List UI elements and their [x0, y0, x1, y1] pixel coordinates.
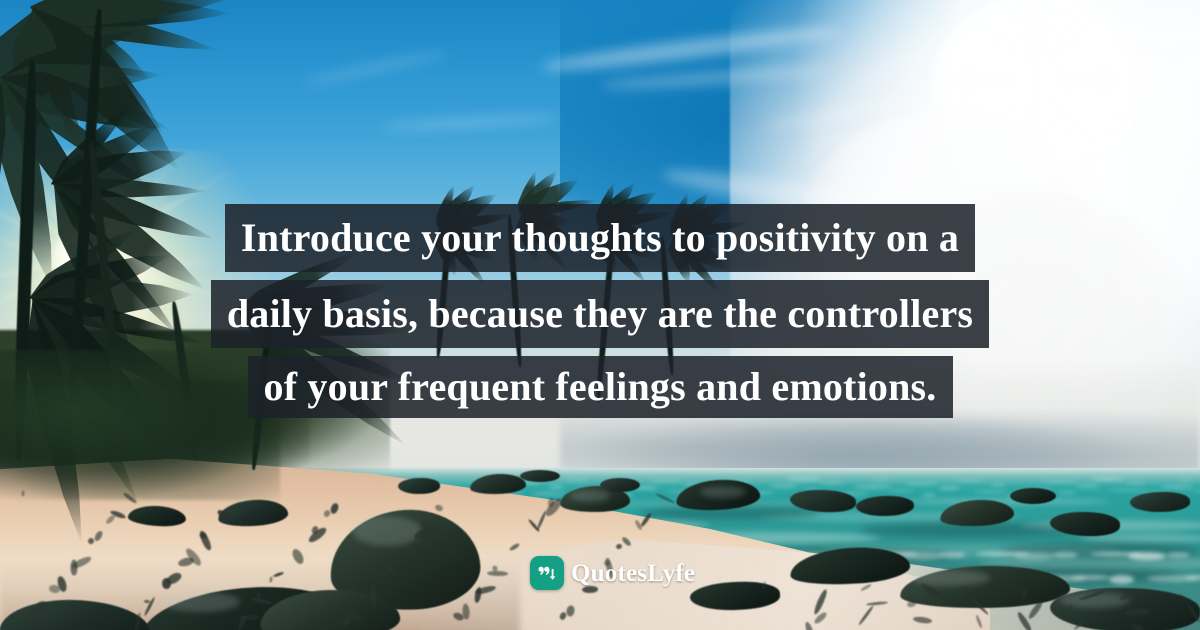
sea-sparkle [1058, 492, 1076, 494]
shore-foam [1052, 552, 1078, 558]
sea-sparkle [939, 487, 960, 489]
sea-sparkle [871, 479, 890, 481]
watermark-logo[interactable]: QuotesLyfe [530, 556, 695, 590]
sea-sparkle [548, 486, 564, 488]
watermark-brand-text: QuotesLyfe [571, 561, 695, 586]
rock-highlight [570, 490, 610, 502]
sea-sparkle [905, 483, 938, 485]
sea-sparkle [1109, 489, 1148, 491]
sea-sparkle [650, 480, 682, 482]
sea-sparkle [1177, 479, 1192, 481]
quote-marks-icon [530, 556, 564, 590]
rock [600, 478, 640, 492]
sea-sparkle [1075, 485, 1100, 487]
sea-sparkle [820, 482, 844, 484]
sea-sparkle [1160, 486, 1194, 488]
shore-foam [1128, 552, 1166, 560]
sea-sparkle [1126, 482, 1146, 484]
sea-sparkle [922, 494, 936, 496]
rock [1010, 488, 1056, 504]
quote-line-1: Introduce your thoughts to positivity on… [225, 204, 975, 272]
sea-sparkle [956, 480, 984, 482]
rock-highlight [352, 516, 422, 546]
sea-sparkle [990, 484, 1006, 486]
sea-sparkle [854, 486, 892, 488]
sea-sparkle [531, 493, 566, 495]
sea-sparkle [786, 478, 822, 480]
sea-sparkle [973, 491, 1008, 493]
sea-sparkle [1041, 481, 1078, 483]
pebble [371, 585, 376, 606]
pebble [70, 559, 78, 575]
sea-sparkle [769, 485, 798, 487]
shore-foam [938, 552, 966, 558]
shore-foam [1014, 552, 1054, 560]
quote-line-3: of your frequent feelings and emotions. [248, 356, 953, 418]
sea-sparkle [888, 490, 914, 492]
shore-foam [1071, 575, 1110, 580]
quote-card: Introduce your thoughts to positivity on… [0, 0, 1200, 630]
rock-highlight [160, 592, 240, 612]
sea-sparkle [565, 479, 588, 481]
rock-highlight [700, 486, 746, 498]
quote-block: Introduce your thoughts to positivity on… [0, 204, 1200, 418]
shore-foam [1109, 575, 1134, 584]
rock [520, 470, 560, 482]
sea-sparkle [1092, 478, 1124, 480]
quote-line-2: daily basis, because they are the contro… [211, 280, 989, 348]
shore-foam [1166, 552, 1190, 558]
